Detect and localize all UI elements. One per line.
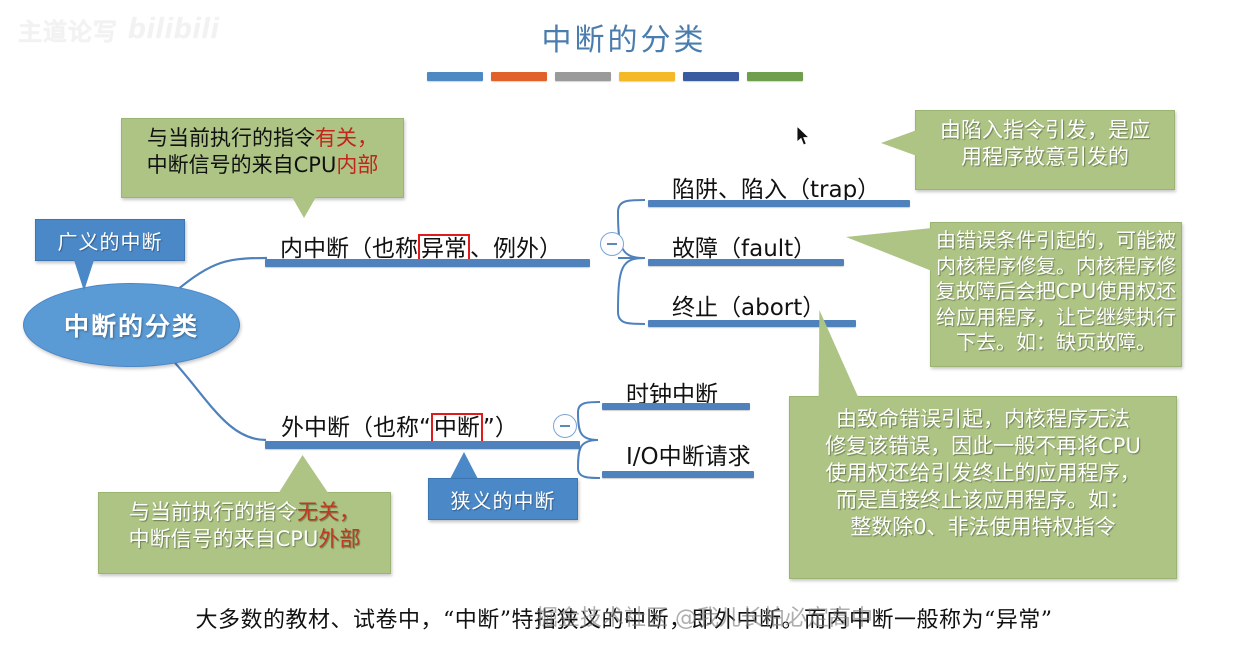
- accent-bar-6: [747, 72, 803, 81]
- node-trap-bar: [648, 200, 910, 207]
- callout-abort-note-line-5: 整数除0、非法使用特权指令: [790, 514, 1176, 541]
- accent-bar-3: [555, 72, 611, 81]
- accent-bar-2: [491, 72, 547, 81]
- callout-abort-note-line-3: 使用权还给引发终止的应用程序，: [790, 460, 1176, 487]
- minus-circle-icon-internal[interactable]: [600, 232, 624, 256]
- callout-external-note: 与当前执行的指令无关， 中断信号的来自CPU外部: [98, 492, 391, 574]
- accent-bar-1: [427, 72, 483, 81]
- callout-trap-note-line-2: 用程序故意引发的: [916, 144, 1174, 171]
- callout-internal-note-tail: [288, 190, 320, 218]
- page-title: 中断的分类: [0, 15, 1248, 59]
- branch-external-prefix: 外中断（也称“: [281, 415, 431, 441]
- text-part-red: 无关，: [297, 500, 360, 524]
- callout-abort-note-line-2: 修复该错误，因此一般不再将CPU: [790, 433, 1176, 460]
- callout-internal-note-line-2: 中断信号的来自CPU内部: [122, 152, 403, 179]
- text-part: 与当前执行的指令: [129, 500, 297, 524]
- callout-external-note-line-1: 与当前执行的指令无关，: [99, 499, 390, 526]
- callout-external-note-tail: [277, 455, 336, 495]
- watermark-bottom: 掘金技术社区 @我儿长柏必定高中: [536, 600, 1056, 640]
- branch-internal-label[interactable]: 内中断（也称异常、例外）: [280, 229, 562, 263]
- callout-fault-note-line-3: 复故障后会把CPU使用权还: [931, 279, 1181, 305]
- node-io-interrupt-bar: [602, 471, 754, 478]
- accent-bar-row: [427, 72, 803, 81]
- accent-bar-5: [683, 72, 739, 81]
- callout-fault-note-line-2: 内核程序修复。内核程序修: [931, 254, 1181, 280]
- callout-trap-note-line-1: 由陷入指令引发，是应: [916, 117, 1174, 144]
- minus-circle-icon-external[interactable]: [553, 414, 577, 438]
- callout-abort-note: 由致命错误引起，内核程序无法 修复该错误，因此一般不再将CPU 使用权还给引发终…: [789, 396, 1177, 579]
- callout-abort-note-line-1: 由致命错误引起，内核程序无法: [790, 406, 1176, 433]
- branch-external-bar: [265, 441, 580, 449]
- text-part-red: 内部: [336, 153, 378, 177]
- node-fault-label[interactable]: 故障（fault）: [672, 229, 816, 263]
- branch-external-suffix: ”）: [483, 415, 518, 441]
- branch-internal-bar: [265, 259, 590, 267]
- node-clock-interrupt-bar: [602, 403, 750, 410]
- text-part: 与当前执行的指令: [147, 126, 315, 150]
- accent-bar-4: [619, 72, 675, 81]
- text-part: 中断信号的来自CPU: [147, 153, 337, 177]
- text-part: 中断信号的来自CPU: [129, 527, 319, 551]
- callout-trap-note: 由陷入指令引发，是应 用程序故意引发的: [915, 110, 1175, 190]
- callout-external-note-line-2: 中断信号的来自CPU外部: [99, 526, 390, 553]
- node-trap-label[interactable]: 陷阱、陷入（trap）: [672, 170, 880, 204]
- callout-internal-note: 与当前执行的指令有关， 中断信号的来自CPU内部: [121, 118, 404, 198]
- callout-broad-tail: [73, 257, 95, 291]
- callout-internal-note-line-1: 与当前执行的指令有关，: [122, 125, 403, 152]
- callout-fault-note: 由错误条件引起的，可能被 内核程序修复。内核程序修 复故障后会把CPU使用权还 …: [930, 222, 1182, 367]
- callout-fault-note-line-4: 给应用程序，让它继续执行: [931, 305, 1181, 331]
- callout-narrow-interrupt[interactable]: 狭义的中断: [428, 478, 578, 520]
- branch-external-label[interactable]: 外中断（也称“中断”）: [281, 408, 518, 442]
- mouse-cursor: [797, 126, 811, 146]
- callout-fault-note-line-5: 下去。如：缺页故障。: [931, 330, 1181, 356]
- node-io-interrupt-label[interactable]: I/O中断请求: [626, 437, 751, 471]
- slide-canvas: 主道论写 bilibili 中断的分类 中断的分类 广义的中断 内中断（也称异常…: [0, 0, 1248, 655]
- callout-fault-note-tail: [846, 228, 932, 271]
- branch-external-keyword: 中断: [431, 413, 483, 443]
- text-part-red: 有关，: [315, 126, 378, 150]
- callout-narrow-tail: [450, 452, 478, 479]
- callout-abort-note-line-4: 而是直接终止该应用程序。如：: [790, 487, 1176, 514]
- text-part-red: 外部: [318, 527, 360, 551]
- callout-fault-note-line-1: 由错误条件引起的，可能被: [931, 228, 1181, 254]
- callout-broad-interrupt[interactable]: 广义的中断: [35, 219, 185, 261]
- node-fault-bar: [648, 259, 844, 266]
- callout-trap-note-tail: [881, 130, 917, 156]
- root-node[interactable]: 中断的分类: [23, 283, 240, 367]
